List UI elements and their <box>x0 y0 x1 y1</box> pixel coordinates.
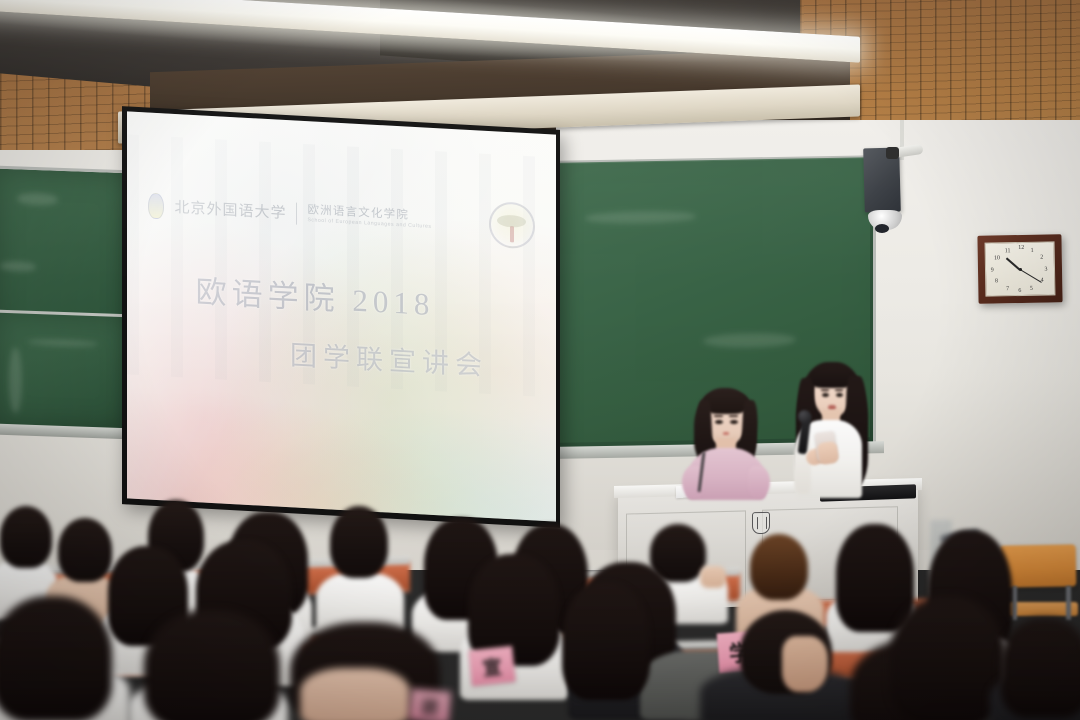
slide-watercolor-decoration <box>127 344 556 522</box>
clock-minute-hand <box>1020 269 1042 283</box>
audience-member-hand <box>700 566 726 588</box>
audience-member-skin <box>300 668 410 720</box>
audience-member-head <box>750 534 808 600</box>
tree-crown-shape <box>497 214 526 228</box>
audience-member-long-hair <box>562 582 650 700</box>
header-divider <box>296 202 297 224</box>
clock-numeral-10: 10 <box>994 256 1000 262</box>
clock-center-pin <box>1018 267 1021 270</box>
audience-member-long-hair <box>0 596 112 720</box>
presenter-standing-hand <box>817 441 840 466</box>
audience-member-face-profile <box>782 636 828 692</box>
clock-numeral-7: 7 <box>1006 286 1009 292</box>
lecture-chair-leg-right <box>1066 586 1071 620</box>
clock-numeral-8: 8 <box>995 279 998 285</box>
clock-numeral-6: 6 <box>1018 288 1021 294</box>
university-name: 北京外国语大学 <box>174 196 286 223</box>
security-camera-icon <box>886 147 899 159</box>
audience-member-long-hair <box>1000 618 1080 718</box>
audience-member-head <box>58 518 112 582</box>
sign-xuan: 宣 <box>468 646 516 686</box>
audience-member-long-hair <box>890 596 1006 720</box>
university-logo-icon <box>148 192 164 219</box>
clock-numeral-1: 1 <box>1031 247 1034 253</box>
sign-partial: 团 <box>409 688 452 720</box>
presenter-seated-sleeve-right <box>748 466 770 498</box>
projection-screen[interactable]: 北京外国语大学 欧洲语言文化学院 School of European Lang… <box>122 106 560 528</box>
clock-numeral-9: 9 <box>991 267 994 273</box>
department-block: 欧洲语言文化学院 School of European Languages an… <box>307 204 431 231</box>
camera-lens-icon <box>875 224 889 233</box>
blackboard-left-lower <box>0 310 134 435</box>
clock-numeral-3: 3 <box>1044 266 1047 272</box>
clock-face: 12 1 2 3 4 5 6 7 8 9 10 11 <box>985 241 1056 296</box>
clock-numeral-11: 11 <box>1005 248 1011 254</box>
microphone-icon <box>798 410 811 423</box>
slide-surface: 北京外国语大学 欧洲语言文化学院 School of European Lang… <box>127 111 556 521</box>
clock-numeral-5: 5 <box>1030 285 1033 291</box>
lecture-hall-scene: 12 1 2 3 4 5 6 7 8 9 10 11 北京外国语大学 <box>0 0 1080 720</box>
clock-numeral-2: 2 <box>1040 255 1043 261</box>
audience-member-head <box>0 506 52 568</box>
wall-clock: 12 1 2 3 4 5 6 7 8 9 10 11 <box>977 234 1062 303</box>
podium-emblem-icon <box>752 512 770 534</box>
tree-emblem-icon <box>489 201 535 249</box>
audience-member-head <box>330 506 388 578</box>
lecture-chair-leg-left <box>1012 586 1017 620</box>
audience-member-long-hair <box>144 610 280 720</box>
clock-numeral-12: 12 <box>1018 245 1024 251</box>
